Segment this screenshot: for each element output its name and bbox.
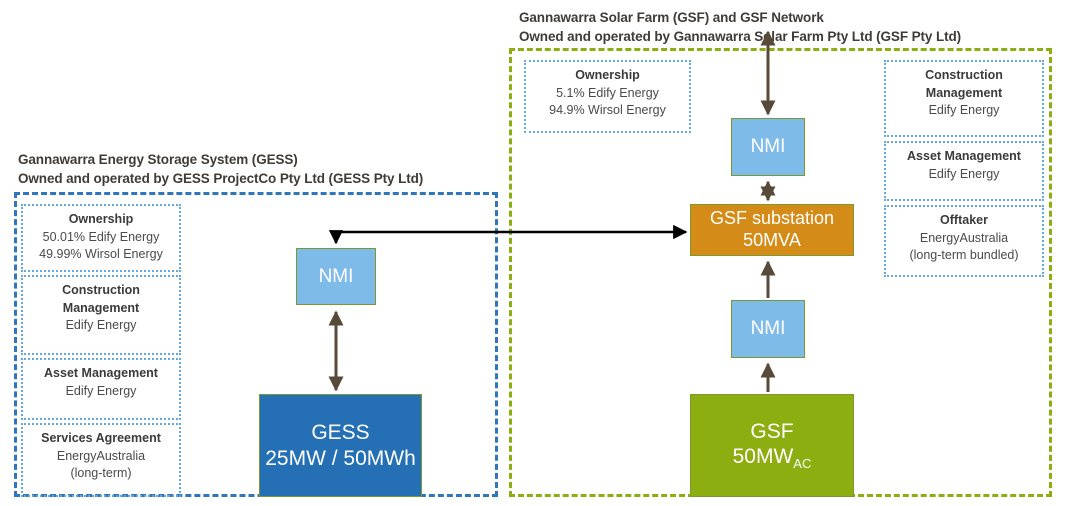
gsf-asset-title: Asset Management	[886, 148, 1042, 166]
gess-nmi-box: NMI	[296, 248, 376, 305]
gsf-substation-rating: 50MVA	[743, 230, 801, 252]
gess-entity-box: GESS 25MW / 50MWh	[259, 394, 422, 497]
gess-ownership-title: Ownership	[23, 211, 179, 229]
gsf-entity-capacity-value: 50MW	[733, 445, 794, 468]
gsf-nmi-top-box: NMI	[731, 118, 805, 176]
gess-construction-line-1: Edify Energy	[23, 317, 179, 335]
gsf-ownership-line-2: 94.9% Wirsol Energy	[526, 102, 689, 120]
gsf-nmi-bottom-box: NMI	[731, 300, 805, 358]
gess-services-agreement-box: Services Agreement EnergyAustralia (long…	[21, 423, 181, 497]
gess-asset-line-1: Edify Energy	[23, 383, 179, 401]
gess-construction-management-box: Construction Management Edify Energy	[21, 275, 181, 355]
gess-construction-title-line-1: Construction	[23, 282, 179, 300]
gsf-offtaker-title: Offtaker	[886, 212, 1042, 230]
gsf-asset-management-box: Asset Management Edify Energy	[884, 141, 1044, 201]
gsf-ownership-box: Ownership 5.1% Edify Energy 94.9% Wirsol…	[524, 60, 691, 133]
gsf-substation-box: GSF substation 50MVA	[690, 204, 854, 256]
gsf-construction-title-line-2: Management	[886, 85, 1042, 103]
gess-ownership-box: Ownership 50.01% Edify Energy 49.99% Wir…	[21, 204, 181, 272]
gess-section-title: Gannawarra Energy Storage System (GESS) …	[18, 150, 423, 188]
gsf-nmi-top-label: NMI	[751, 135, 786, 158]
gess-asset-management-box: Asset Management Edify Energy	[21, 358, 181, 420]
gess-asset-title: Asset Management	[23, 365, 179, 383]
gsf-ownership-line-1: 5.1% Edify Energy	[526, 85, 689, 103]
gess-construction-title-line-2: Management	[23, 300, 179, 318]
gess-services-line-1: EnergyAustralia	[23, 448, 179, 466]
gsf-substation-name: GSF substation	[710, 208, 834, 230]
gsf-nmi-bottom-label: NMI	[751, 317, 786, 340]
gess-ownership-line-2: 49.99% Wirsol Energy	[23, 246, 179, 264]
gsf-offtaker-box: Offtaker EnergyAustralia (long-term bund…	[884, 205, 1044, 277]
gsf-offtaker-line-1: EnergyAustralia	[886, 230, 1042, 248]
gsf-entity-box: GSF 50MWAC	[690, 394, 854, 497]
diagram-canvas: Gannawarra Energy Storage System (GESS) …	[0, 0, 1080, 506]
gsf-construction-title-line-1: Construction	[886, 67, 1042, 85]
gess-nmi-label: NMI	[319, 265, 354, 288]
gsf-section-title: Gannawarra Solar Farm (GSF) and GSF Netw…	[519, 8, 961, 46]
gsf-construction-management-box: Construction Management Edify Energy	[884, 60, 1044, 137]
gess-entity-capacity: 25MW / 50MWh	[265, 446, 416, 472]
gess-entity-name: GESS	[311, 420, 369, 446]
gsf-offtaker-line-2: (long-term bundled)	[886, 247, 1042, 265]
gess-services-title: Services Agreement	[23, 430, 179, 448]
gsf-construction-line-1: Edify Energy	[886, 102, 1042, 120]
gsf-asset-line-1: Edify Energy	[886, 166, 1042, 184]
gsf-entity-name: GSF	[750, 419, 793, 445]
gess-ownership-line-1: 50.01% Edify Energy	[23, 229, 179, 247]
gess-services-line-2: (long-term)	[23, 465, 179, 483]
gsf-entity-capacity: 50MWAC	[733, 444, 812, 472]
gsf-ownership-title: Ownership	[526, 67, 689, 85]
gsf-entity-capacity-subscript: AC	[793, 456, 811, 471]
